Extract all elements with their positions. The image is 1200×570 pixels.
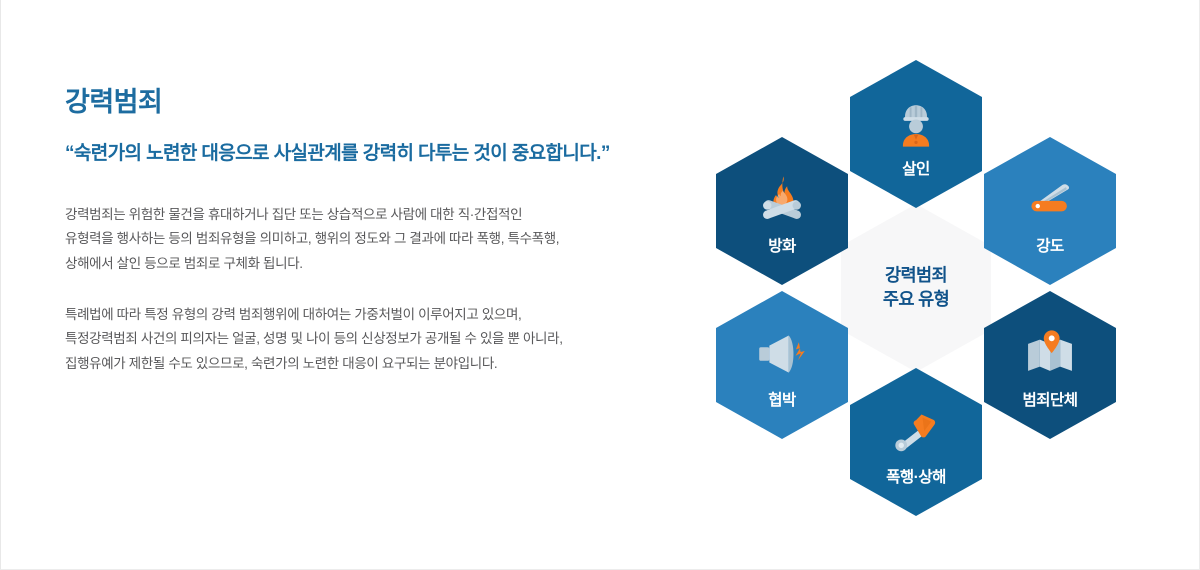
page-title: 강력범죄 <box>65 86 665 118</box>
body-paragraph-2: 특례법에 따라 특정 유형의 강력 범죄행위에 대하여는 가중처벌이 이루어지고… <box>65 303 665 377</box>
body-line: 유형력을 행사하는 등의 범죄유형을 의미하고, 행위의 정도와 그 결과에 따… <box>65 227 665 252</box>
hex-node-arson[interactable]: 방화 <box>716 137 848 285</box>
hex-label: 폭행·상해 <box>886 465 946 487</box>
body-line: 특정강력범죄 사건의 피의자는 얼굴, 성명 및 나이 등의 신상정보가 공개될… <box>65 327 665 352</box>
megaphone-icon <box>755 327 809 381</box>
hex-node-robbery[interactable]: 강도 <box>984 137 1116 285</box>
hex-label: 살인 <box>902 157 930 179</box>
body-paragraph-1: 강력범죄는 위험한 물건을 휴대하거나 집단 또는 상습적으로 사람에 대한 직… <box>65 203 665 277</box>
page-root: 강력범죄 “숙련가의 노련한 대응으로 사실관계를 강력히 다투는 것이 중요합… <box>0 0 1200 570</box>
hex-label: 협박 <box>768 388 796 410</box>
body-line: 상해에서 살인 등으로 범죄로 구체화 됩니다. <box>65 252 665 277</box>
hex-node-murder[interactable]: 살인 <box>850 60 982 208</box>
map-pin-icon <box>1023 327 1077 381</box>
campfire-icon <box>755 173 809 227</box>
axe-icon <box>889 404 943 458</box>
crime-types-hex-diagram: 강력범죄 주요 유형 <box>701 55 1131 505</box>
hex-node-threat[interactable]: 협박 <box>716 291 848 439</box>
hex-label: 강도 <box>1036 234 1064 256</box>
worker-person-icon <box>889 96 943 150</box>
body-line: 강력범죄는 위험한 물건을 휴대하거나 집단 또는 상습적으로 사람에 대한 직… <box>65 203 665 228</box>
body-line: 특례법에 따라 특정 유형의 강력 범죄행위에 대하여는 가중처벌이 이루어지고… <box>65 303 665 328</box>
pocket-knife-icon <box>1023 173 1077 227</box>
hex-label: 방화 <box>768 234 796 256</box>
hex-node-center: 강력범죄 주요 유형 <box>841 204 991 372</box>
hex-label: 범죄단체 <box>1022 388 1077 410</box>
content-column: 강력범죄 “숙련가의 노련한 대응으로 사실관계를 강력히 다투는 것이 중요합… <box>65 86 665 376</box>
hex-center-label: 강력범죄 주요 유형 <box>883 264 949 311</box>
body-line: 집행유예가 제한될 수도 있으므로, 숙련가의 노련한 대응이 요구되는 분야입… <box>65 352 665 377</box>
headline-quote: “숙련가의 노련한 대응으로 사실관계를 강력히 다투는 것이 중요합니다.” <box>65 140 645 169</box>
hex-node-crime-group[interactable]: 범죄단체 <box>984 291 1116 439</box>
hex-node-assault[interactable]: 폭행·상해 <box>850 368 982 516</box>
